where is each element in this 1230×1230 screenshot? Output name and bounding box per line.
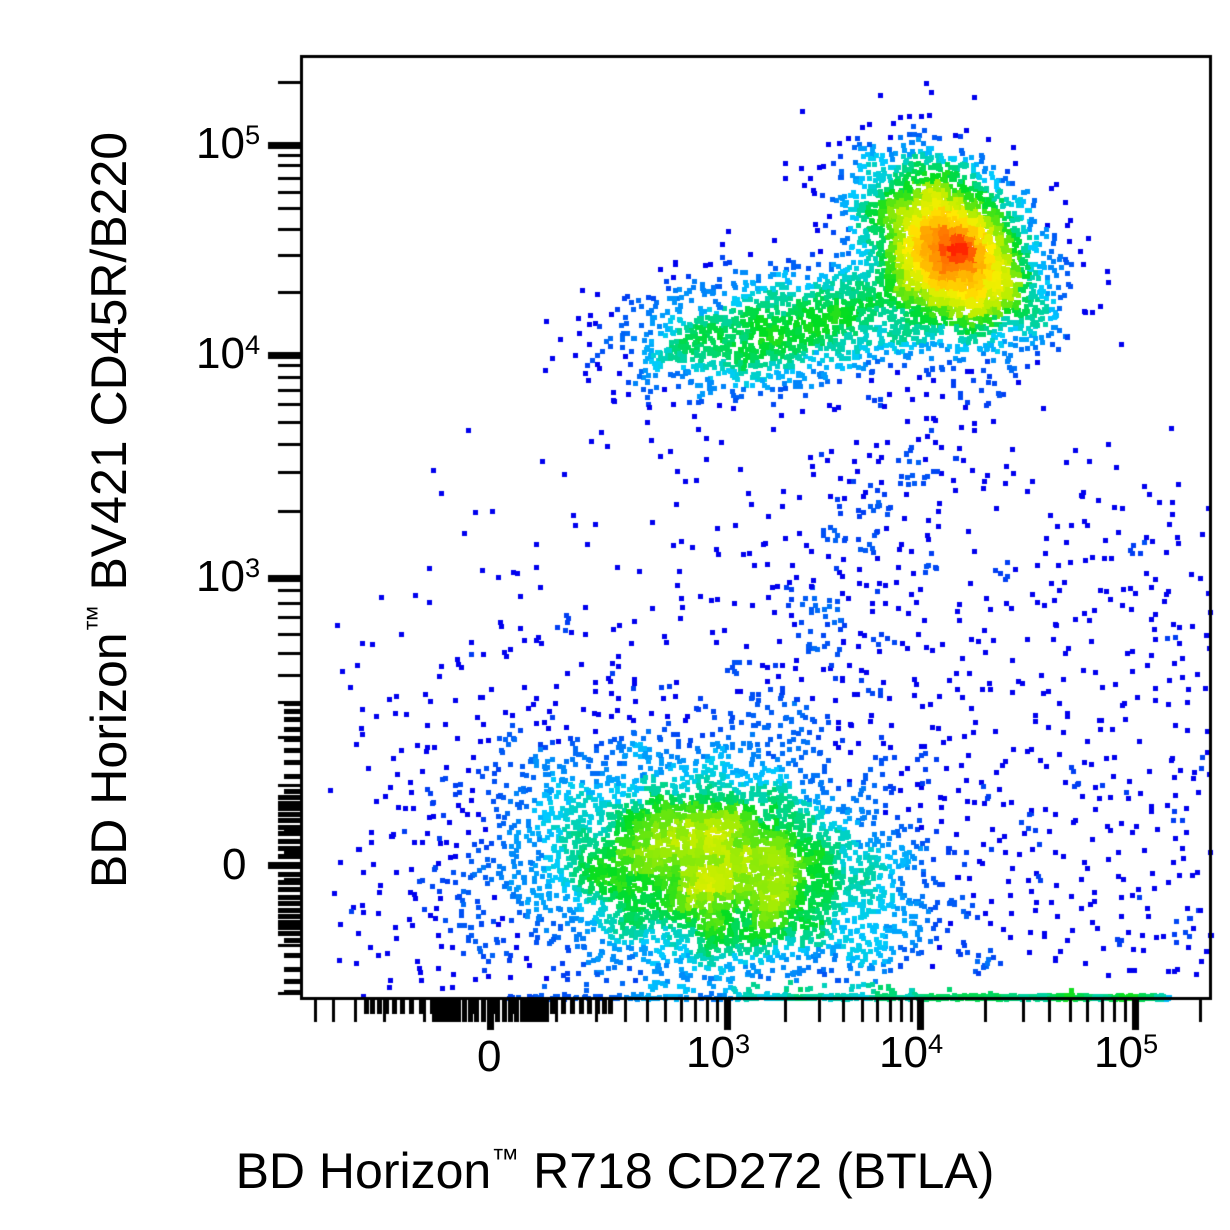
y-axis-title: BD Horizon™ BV421 CD45R/B220 [80, 0, 160, 1020]
x-tick-label-1e5: 105 [1094, 1028, 1158, 1078]
y-tick-label-1e3: 103 [196, 552, 260, 602]
y-tick-label-1e5: 105 [196, 119, 260, 169]
x-tick-label-1e4: 104 [879, 1028, 943, 1078]
y-tick-label-1e4: 104 [196, 329, 260, 379]
x-tick-label-0: 0 [477, 1032, 501, 1082]
scatter-plot-canvas [0, 0, 1230, 1230]
y-tick-label-0: 0 [222, 840, 246, 890]
flow-cytometry-plot-figure: 105 104 103 0 0 103 104 105 BD Horizon™ … [0, 0, 1230, 1230]
trademark-icon-y: ™ [81, 604, 112, 632]
x-tick-label-1e3: 103 [686, 1028, 750, 1078]
y-axis-title-prefix: BD Horizon [81, 632, 137, 888]
x-axis-title: BD Horizon™ R718 CD272 (BTLA) [0, 1142, 1230, 1200]
y-axis-title-suffix: BV421 CD45R/B220 [81, 132, 137, 605]
x-axis-title-prefix: BD Horizon [236, 1143, 492, 1199]
x-axis-title-suffix: R718 CD272 (BTLA) [519, 1143, 994, 1199]
trademark-icon-x: ™ [491, 1143, 519, 1174]
